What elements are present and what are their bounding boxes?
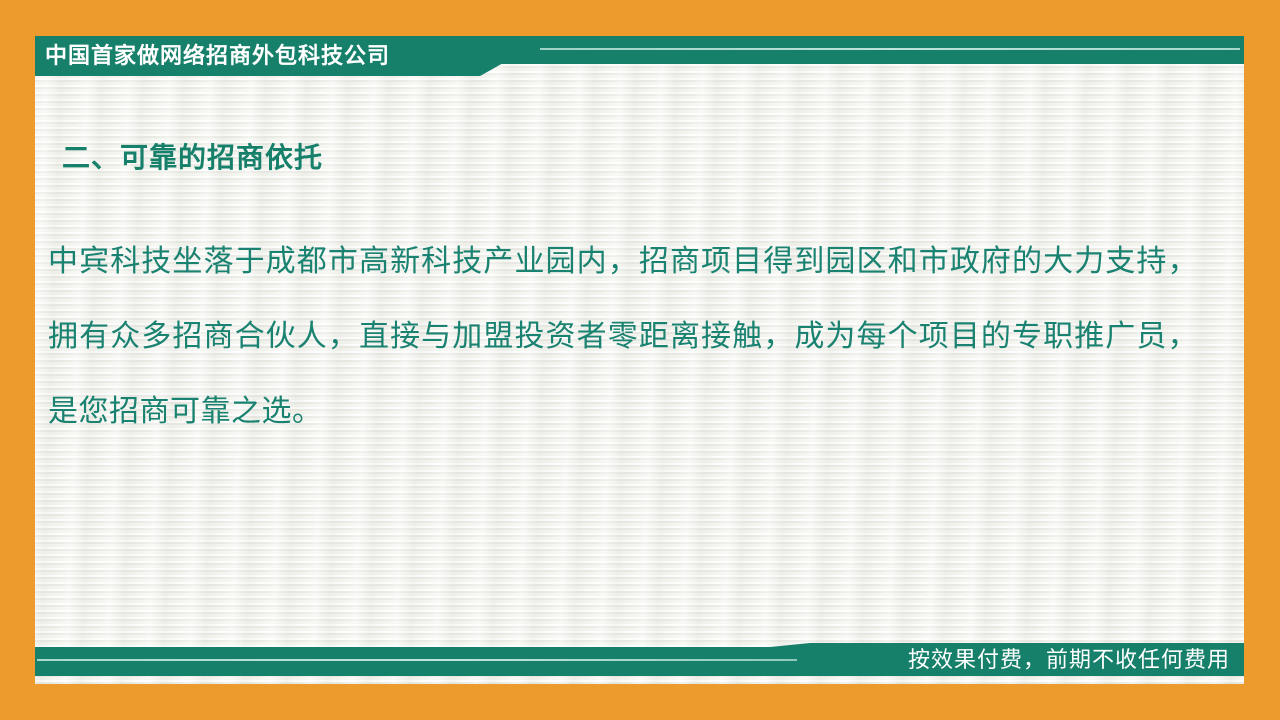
header-band: 中国首家做网络招商外包科技公司 — [35, 36, 1244, 76]
footer-divider-line — [37, 659, 797, 661]
header-title: 中国首家做网络招商外包科技公司 — [45, 36, 390, 76]
footer-slogan: 按效果付费，前期不收任何费用 — [908, 643, 1230, 676]
footer-band: 按效果付费，前期不收任何费用 — [35, 620, 1244, 684]
slide-canvas: 中国首家做网络招商外包科技公司 二、可靠的招商依托 中宾科技坐落于成都市高新科技… — [0, 0, 1280, 720]
slide-content: 二、可靠的招商依托 中宾科技坐落于成都市高新科技产业园内，招商项目得到园区和市政… — [35, 76, 1244, 636]
section-heading: 二、可靠的招商依托 — [62, 136, 323, 176]
header-divider-line — [540, 48, 1240, 50]
body-paragraph: 中宾科技坐落于成都市高新科技产业园内，招商项目得到园区和市政府的大力支持，拥有众… — [48, 224, 1198, 449]
